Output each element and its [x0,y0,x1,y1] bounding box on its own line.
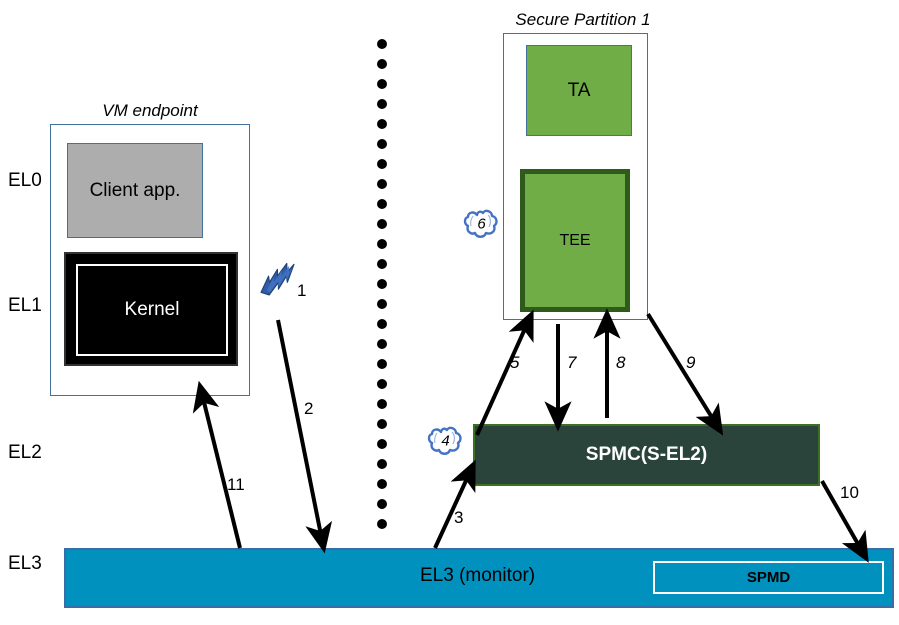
arrow-11 [202,394,240,548]
arrow-label-11: 11 [227,475,245,495]
arrow-2 [278,320,322,540]
diagram-canvas: EL0 EL1 EL2 EL3 VM endpoint Client app. … [0,0,899,625]
lightning-bolt-icon [255,261,302,298]
arrow-9 [648,314,716,424]
diagram-vector-layer [0,0,899,625]
arrow-label-2: 2 [304,399,313,419]
callout-4-label: 4 [428,432,463,449]
arrow-label-1: 1 [297,281,306,301]
secure-world-divider [377,39,387,529]
arrow-label-9: 9 [686,353,695,373]
arrow-3 [435,472,470,548]
arrow-label-7: 7 [567,353,576,373]
arrow-label-5: 5 [510,353,519,373]
arrow-label-8: 8 [616,353,625,373]
callout-6: 6 [464,207,499,240]
callout-6-label: 6 [464,215,499,232]
arrow-5 [477,322,528,435]
callout-4: 4 [428,424,463,457]
arrow-label-3: 3 [454,508,463,528]
arrow-label-10: 10 [840,483,859,503]
